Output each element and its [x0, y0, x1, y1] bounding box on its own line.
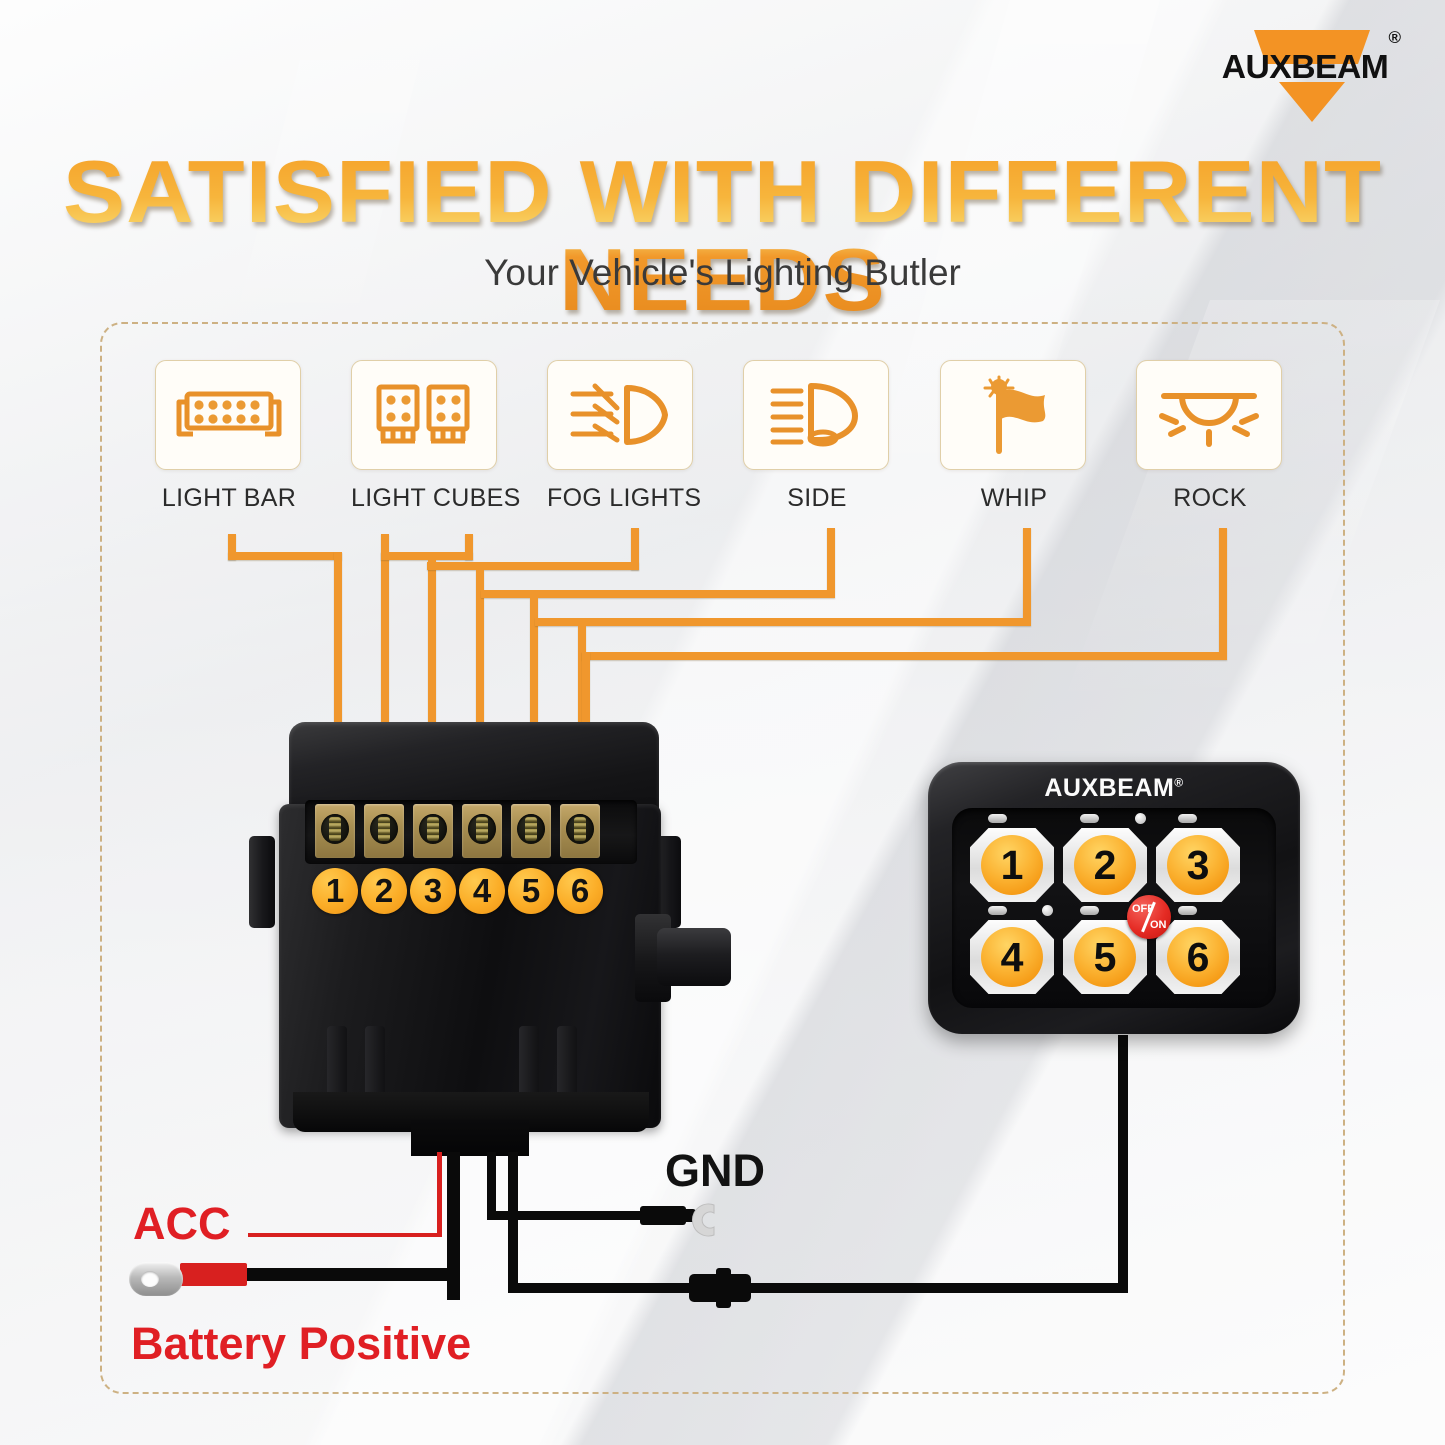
logo-wordmark: AUXBEAM — [1215, 48, 1395, 86]
route-line-3 — [381, 552, 473, 560]
led-dot-indicator — [1135, 813, 1146, 824]
logo-triangle-bottom-icon — [1279, 82, 1345, 122]
terminal-screw-icon — [566, 814, 594, 844]
terminal-block — [315, 804, 355, 858]
led-indicator — [1080, 906, 1099, 915]
terminal-number-badge: 5 — [508, 868, 554, 914]
light-bar-iconbox — [155, 360, 301, 470]
keypad-button-4[interactable]: 4 — [970, 920, 1054, 994]
keypad-button-label: 1 — [981, 835, 1043, 895]
led-indicator — [988, 814, 1007, 823]
page-title: SATISFIED WITH DIFFERENT NEEDS — [0, 148, 1445, 324]
logo-registered-mark: ® — [1388, 28, 1401, 48]
terminal-number-badge: 4 — [459, 868, 505, 914]
terminal-block — [511, 804, 551, 858]
terminal-block — [413, 804, 453, 858]
gnd-connector — [640, 1206, 686, 1225]
ring-terminal-hole — [141, 1271, 159, 1287]
power-on-label: ON — [1150, 919, 1167, 931]
terminal-block — [462, 804, 502, 858]
mounting-tab — [557, 1026, 577, 1100]
side-connector-barrel — [657, 928, 731, 986]
terminal-screw-icon — [370, 814, 398, 844]
auxbeam-logo: AUXBEAM ® — [1217, 24, 1407, 116]
light-type-label: LIGHT BAR — [155, 484, 303, 513]
light-type-label: SIDE — [743, 484, 891, 513]
terminal-screw-icon — [468, 814, 496, 844]
infographic-canvas: AUXBEAM ® SATISFIED WITH DIFFERENT NEEDS… — [0, 0, 1445, 1445]
terminal-block — [364, 804, 404, 858]
light-type-fog-lights: FOG LIGHTS — [547, 360, 695, 513]
led-indicator — [1178, 814, 1197, 823]
acc-label: ACC — [133, 1198, 231, 1250]
keypad-button-label: 4 — [981, 927, 1043, 987]
acc-wire — [437, 1152, 442, 1237]
whip-light-icon — [963, 375, 1063, 455]
terminal-screw-icon — [419, 814, 447, 844]
terminal-number-badge: 2 — [361, 868, 407, 914]
route-line-4 — [427, 562, 639, 570]
fog-lights-iconbox — [547, 360, 693, 470]
keypad-brand-label: AUXBEAM® — [928, 774, 1300, 803]
control-box-left-tab — [249, 836, 275, 928]
gnd-wire — [487, 1152, 496, 1218]
keypad-button-label: 6 — [1167, 927, 1229, 987]
keypad-brand-text: AUXBEAM — [1044, 774, 1174, 802]
route-line-6 — [1023, 528, 1031, 618]
keypad-button-6[interactable]: 6 — [1156, 920, 1240, 994]
light-type-light-cubes: LIGHT CUBES — [351, 360, 499, 513]
light-type-side: SIDE — [743, 360, 891, 513]
control-keypad: AUXBEAM® 1 2 3 4 5 6 — [928, 762, 1300, 1034]
light-cubes-iconbox — [351, 360, 497, 470]
route-line-7 — [1219, 528, 1227, 652]
control-box: 1 2 3 4 5 6 — [243, 716, 731, 1176]
gnd-label: GND — [665, 1145, 765, 1197]
light-type-whip: WHIP — [940, 360, 1088, 513]
terminal-number-badge: 3 — [410, 868, 456, 914]
keypad-button-label: 2 — [1074, 835, 1136, 895]
keypad-power-button[interactable]: OFF ON — [1127, 895, 1171, 939]
keypad-data-cable — [508, 1152, 518, 1292]
terminal-block — [560, 804, 600, 858]
led-indicator — [988, 906, 1007, 915]
rock-light-iconbox — [1136, 360, 1282, 470]
keypad-registered-mark: ® — [1174, 776, 1183, 790]
light-type-label: WHIP — [940, 484, 1088, 513]
route-line-5 — [827, 528, 835, 590]
keypad-button-3[interactable]: 3 — [1156, 828, 1240, 902]
battery-positive-wire-red-sleeve — [180, 1263, 247, 1286]
light-bar-icon — [173, 384, 283, 446]
mounting-tab — [365, 1026, 385, 1100]
keypad-button-label: 5 — [1074, 927, 1136, 987]
light-type-label: ROCK — [1136, 484, 1284, 513]
fog-lights-icon — [565, 380, 675, 450]
light-cubes-icon — [369, 379, 479, 451]
led-indicator — [1178, 906, 1197, 915]
light-type-light-bar: LIGHT BAR — [155, 360, 303, 513]
route-line-6 — [535, 618, 1031, 626]
battery-positive-label: Battery Positive — [131, 1318, 471, 1370]
whip-light-iconbox — [940, 360, 1086, 470]
gnd-ring-terminal-icon — [688, 1201, 722, 1239]
terminal-screw-icon — [517, 814, 545, 844]
cable-exit-boot — [411, 1120, 529, 1156]
light-type-label: FOG LIGHTS — [547, 484, 695, 513]
inline-connector-collar — [716, 1268, 731, 1308]
route-line-1 — [228, 552, 342, 560]
mounting-tab — [327, 1026, 347, 1100]
terminal-number-badge: 6 — [557, 868, 603, 914]
side-light-icon — [761, 380, 871, 450]
keypad-button-1[interactable]: 1 — [970, 828, 1054, 902]
acc-wire — [248, 1233, 440, 1237]
rock-light-icon — [1154, 380, 1264, 450]
light-type-rock: ROCK — [1136, 360, 1284, 513]
route-line-5 — [481, 590, 835, 598]
keypad-button-2[interactable]: 2 — [1063, 828, 1147, 902]
terminal-screw-icon — [321, 814, 349, 844]
side-light-iconbox — [743, 360, 889, 470]
page-subtitle: Your Vehicle's Lighting Butler — [0, 252, 1445, 294]
keypad-data-cable — [1118, 1035, 1128, 1287]
mounting-tab — [519, 1026, 539, 1100]
keypad-button-label: 3 — [1167, 835, 1229, 895]
led-indicator — [1080, 814, 1099, 823]
ring-terminal-icon — [129, 1262, 183, 1296]
led-dot-indicator — [1042, 905, 1053, 916]
keypad-data-cable — [508, 1283, 1128, 1293]
terminal-number-badge: 1 — [312, 868, 358, 914]
route-line-7 — [582, 652, 1227, 660]
light-type-label: LIGHT CUBES — [351, 484, 499, 513]
